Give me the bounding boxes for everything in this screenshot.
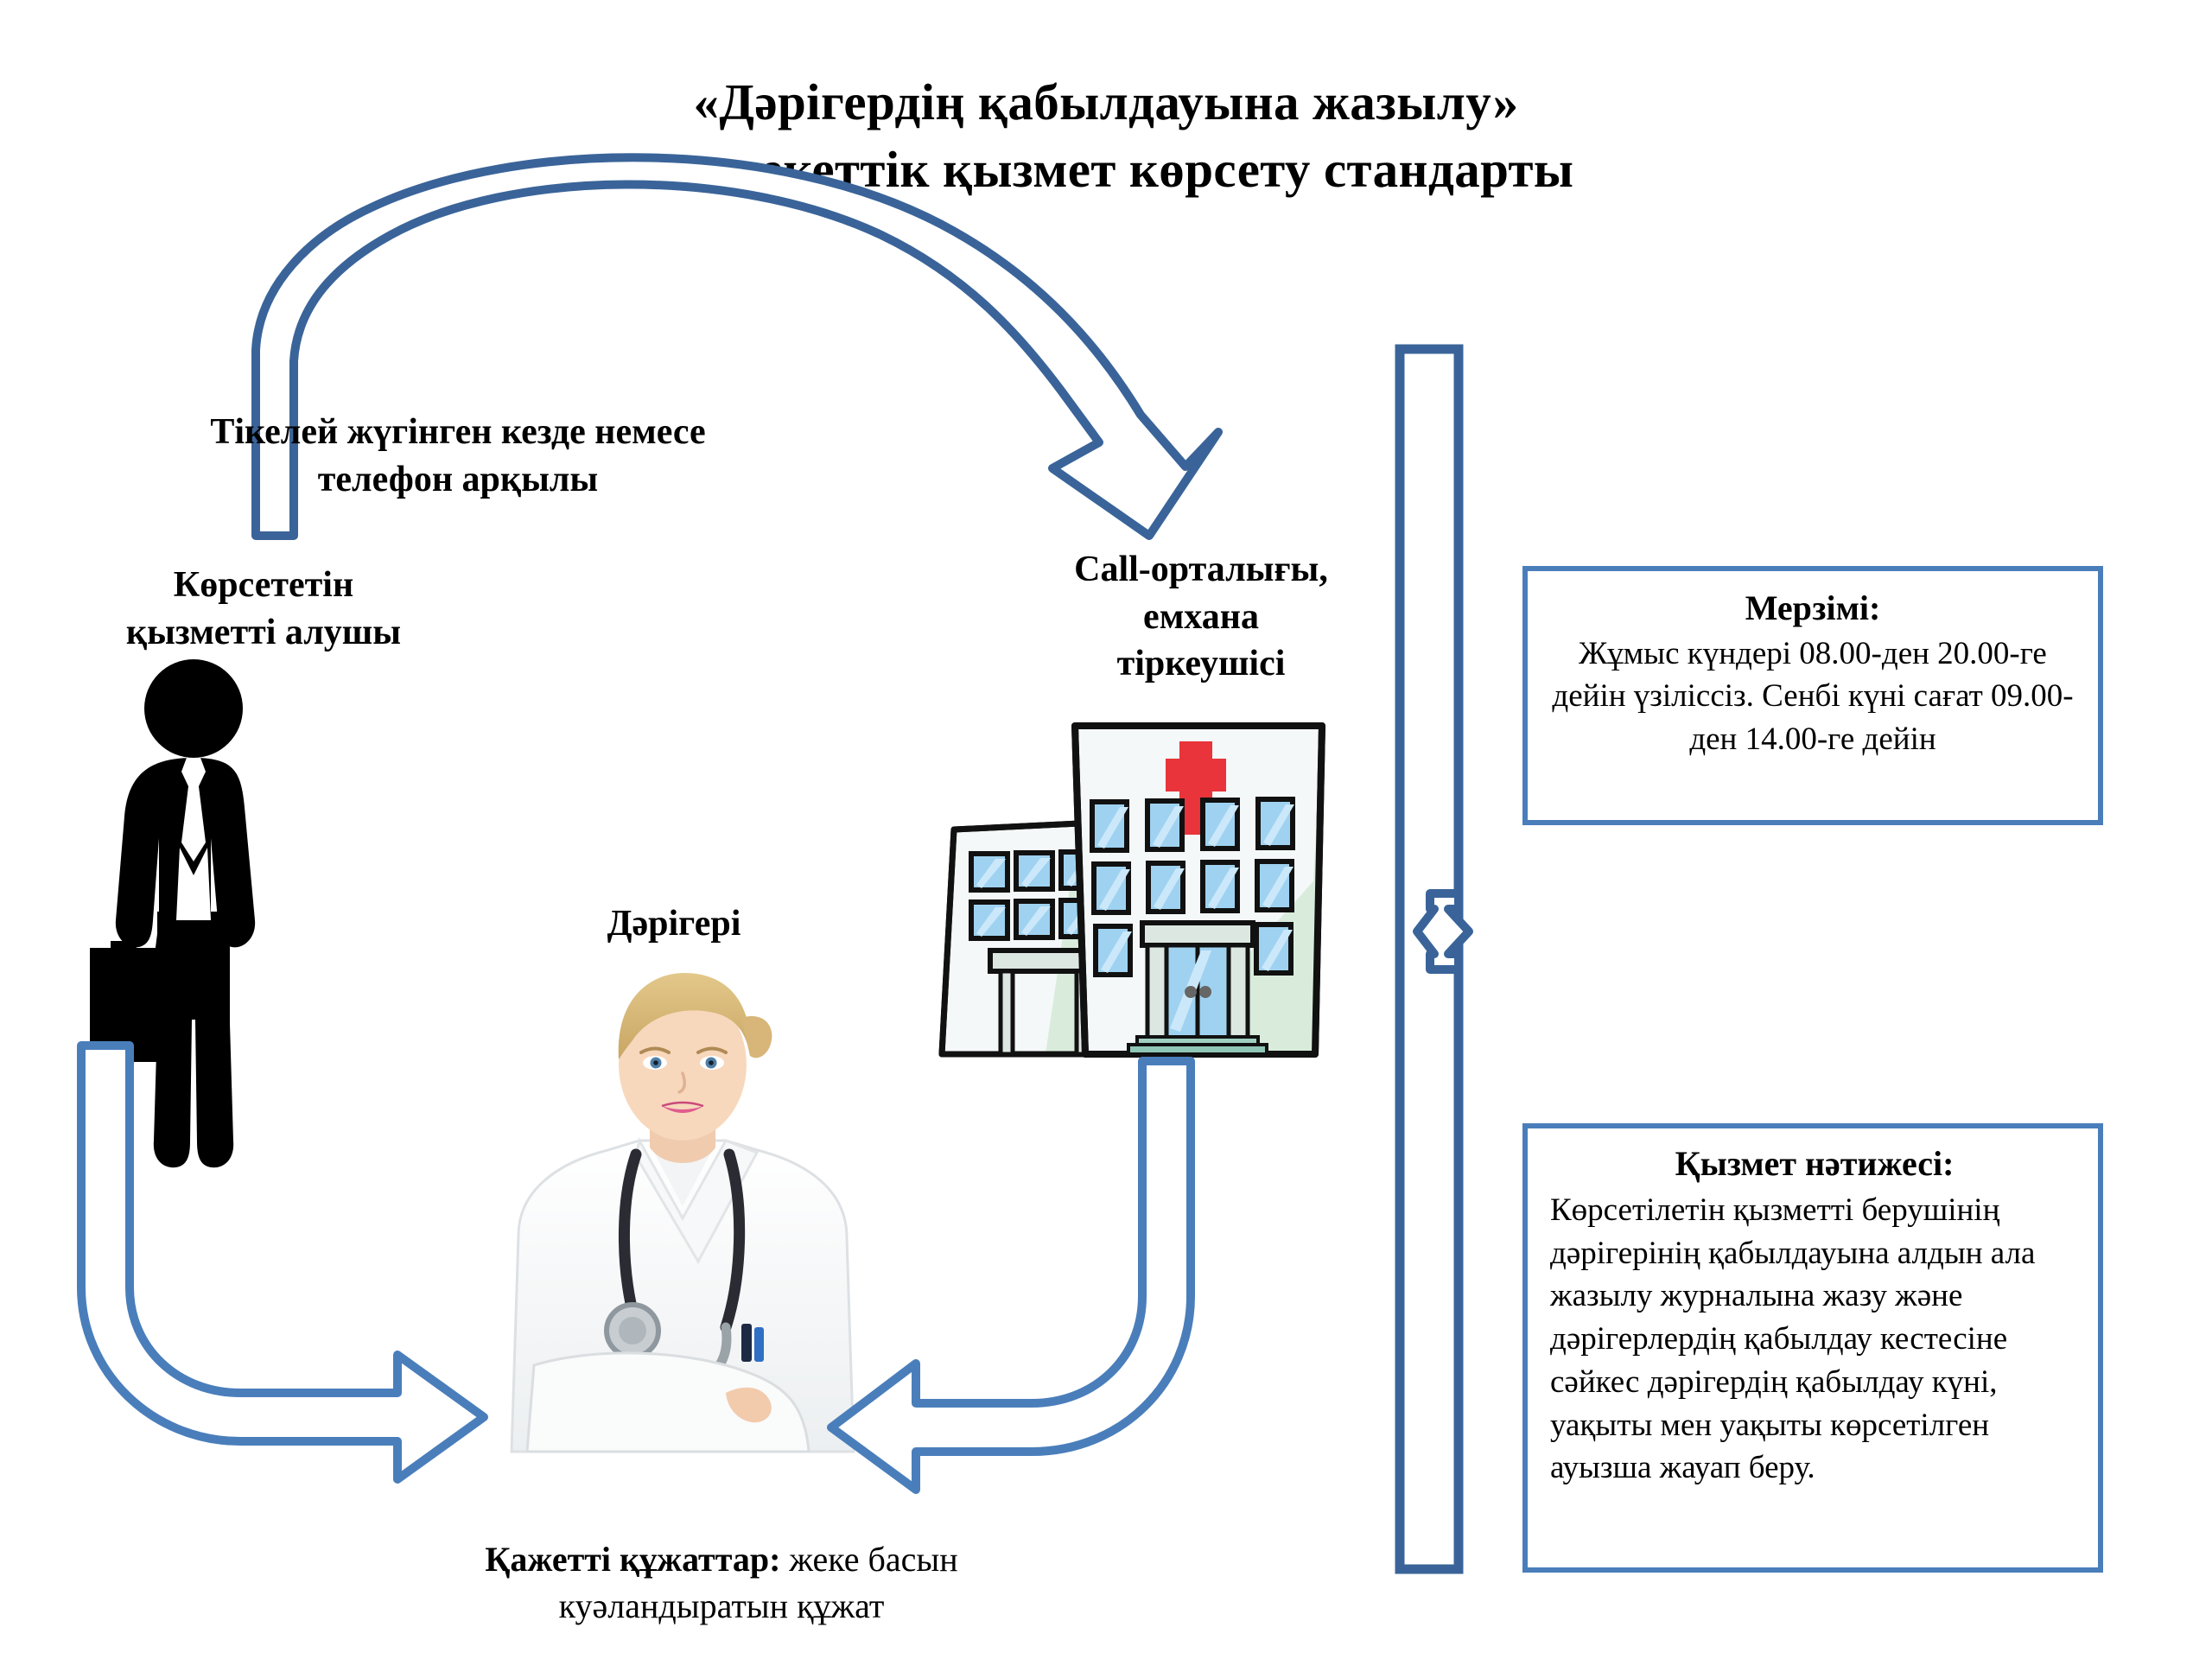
direct-line-2: телефон арқылы — [130, 456, 786, 504]
direct-line-1: Тікелей жүгінген кезде немесе — [130, 409, 786, 456]
callcenter-line-2: емхана — [1020, 594, 1382, 641]
receiver-line-1: Көрсететін — [82, 562, 445, 609]
label-direct-request: Тікелей жүгінген кезде немесе телефон ар… — [130, 409, 786, 503]
vertical-bracket-with-arrow — [1400, 349, 1469, 1569]
label-doctor: Дәрігері — [536, 900, 812, 948]
poster-canvas: «Дәрігердің қабылдауына жазылу» мемлекет… — [0, 0, 2212, 1659]
label-service-receiver: Көрсететін қызметті алушы — [82, 562, 445, 656]
caption-line-2: куәландыратын құжат — [363, 1583, 1080, 1630]
caption-rest: жеке басын — [780, 1540, 957, 1579]
elbow-arrow-clinic-to-doctor — [831, 1061, 1191, 1490]
callcenter-line-3: тіркеушісі — [1020, 640, 1382, 688]
receiver-line-2: қызметті алушы — [82, 609, 445, 657]
label-call-center: Call-орталығы, емхана тіркеушісі — [1020, 546, 1382, 688]
caption-line-1: Қажетті құжаттар: жеке басын — [363, 1536, 1080, 1583]
caption-bold: Қажетті құжаттар: — [485, 1540, 780, 1579]
elbow-arrow-client-to-doctor — [81, 1046, 484, 1479]
arrows-layer — [0, 0, 2212, 1659]
callcenter-line-1: Call-орталығы, — [1020, 546, 1382, 594]
required-documents-caption: Қажетті құжаттар: жеке басын куәландырат… — [363, 1536, 1080, 1630]
